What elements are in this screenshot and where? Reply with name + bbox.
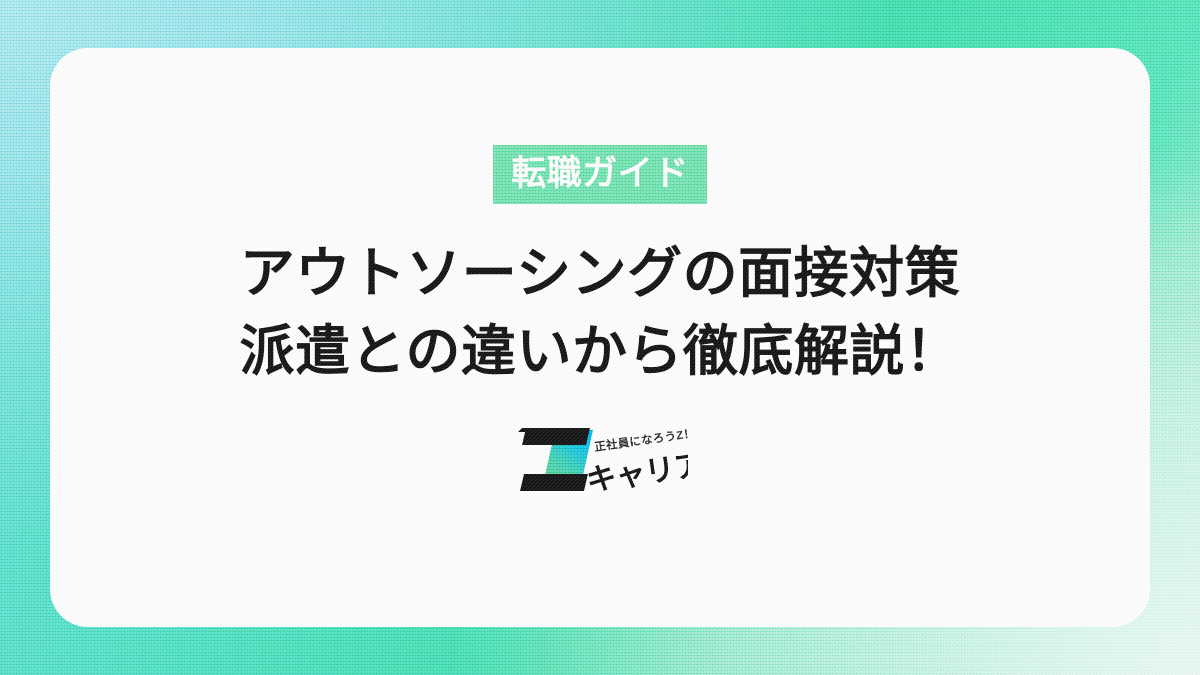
content-card: 転職ガイド アウトソーシングの面接対策 派遣との違いから徹底解説！ bbox=[50, 48, 1150, 627]
page-title-line-2: 派遣との違いから徹底解説！ bbox=[240, 312, 961, 390]
thumbnail-canvas: 転職ガイド アウトソーシングの面接対策 派遣との違いから徹底解説！ bbox=[0, 0, 1200, 675]
page-title-line-1: アウトソーシングの面接対策 bbox=[240, 234, 961, 312]
z-mark-icon bbox=[518, 428, 593, 491]
brand-logo-svg: 正社員になろうZ！ キャリア bbox=[512, 425, 688, 501]
category-badge: 転職ガイド bbox=[493, 145, 707, 204]
card-content: 転職ガイド アウトソーシングの面接対策 派遣との違いから徹底解説！ bbox=[50, 48, 1150, 627]
brand-wordmark: キャリア bbox=[584, 449, 688, 498]
page-title: アウトソーシングの面接対策 派遣との違いから徹底解説！ bbox=[240, 234, 961, 390]
brand-logo: 正社員になろうZ！ キャリア bbox=[512, 425, 688, 501]
brand-tagline: 正社員になろうZ！ bbox=[593, 426, 688, 454]
